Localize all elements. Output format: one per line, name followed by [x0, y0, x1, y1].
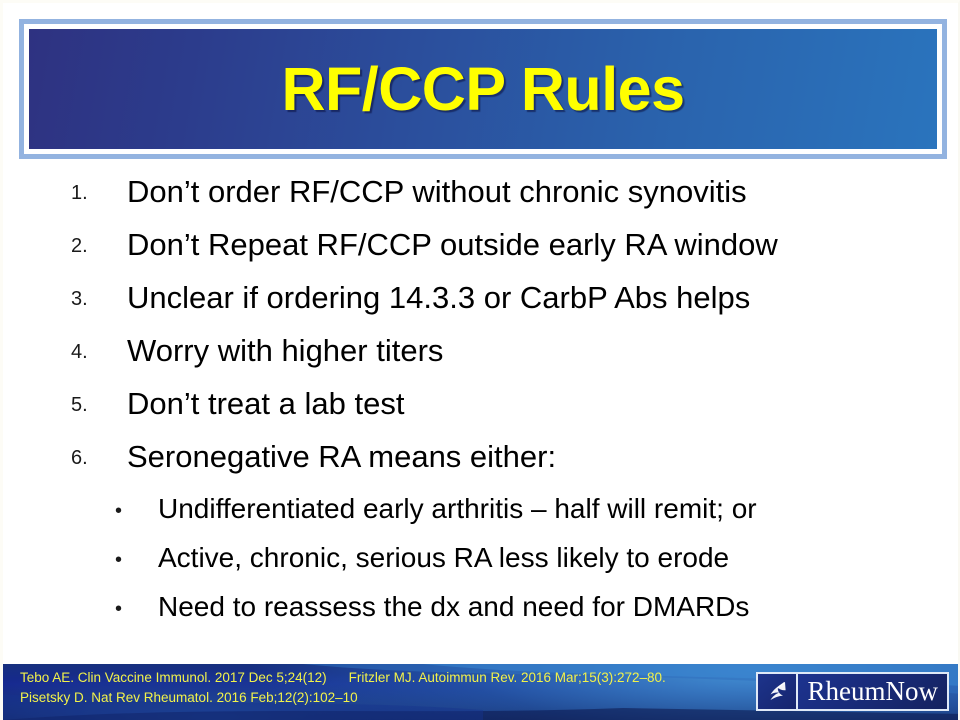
sub-list-item: • Active, chronic, serious RA less likel…: [3, 536, 960, 585]
citation-pisetsky: Pisetsky D. Nat Rev Rheumatol. 2016 Feb;…: [20, 690, 358, 705]
bullet-icon: •: [115, 550, 131, 570]
title-banner: RF/CCP Rules: [19, 19, 947, 159]
list-item: 3. Unclear if ordering 14.3.3 or CarbP A…: [3, 275, 960, 328]
brush-swoosh-glyph: [764, 679, 790, 705]
sub-list-item: • Undifferentiated early arthritis – hal…: [3, 487, 960, 536]
list-item-label: Don’t order RF/CCP without chronic synov…: [127, 169, 747, 215]
list-item-number: 1.: [71, 182, 105, 205]
list-item-label: Don’t treat a lab test: [127, 381, 404, 427]
list-item-number: 2.: [71, 235, 105, 258]
list-item: 2. Don’t Repeat RF/CCP outside early RA …: [3, 222, 960, 275]
list-item-number: 4.: [71, 341, 105, 364]
sub-list-item-label: Need to reassess the dx and need for DMA…: [158, 585, 749, 629]
page-title: RF/CCP Rules: [281, 59, 684, 120]
list-item-label: Worry with higher titers: [127, 328, 443, 374]
list-item: 4. Worry with higher titers: [3, 328, 960, 381]
citation-row-1: Tebo AE. Clin Vaccine Immunol. 2017 Dec …: [20, 668, 666, 688]
sub-list-item: • Need to reassess the dx and need for D…: [3, 585, 960, 634]
rheumnow-logo-text: RheumNow: [808, 678, 939, 705]
citation-fritzler: Fritzler MJ. Autoimmun Rev. 2016 Mar;15(…: [349, 670, 666, 685]
list-item-number: 6.: [71, 447, 105, 470]
list-item-label: Unclear if ordering 14.3.3 or CarbP Abs …: [127, 275, 750, 321]
list-item-label: Seronegative RA means either:: [127, 434, 556, 480]
rheumnow-wordmark: RheumNow: [798, 674, 948, 709]
bullet-icon: •: [115, 599, 131, 619]
citations: Tebo AE. Clin Vaccine Immunol. 2017 Dec …: [20, 668, 666, 708]
brush-swoosh-icon: [758, 674, 798, 709]
slide-footer: Tebo AE. Clin Vaccine Immunol. 2017 Dec …: [3, 664, 960, 720]
slide-canvas: RF/CCP Rules 1. Don’t order RF/CCP witho…: [0, 0, 960, 720]
citation-tebo: Tebo AE. Clin Vaccine Immunol. 2017 Dec …: [20, 670, 327, 685]
list-item-number: 5.: [71, 394, 105, 417]
title-banner-fill: RF/CCP Rules: [29, 29, 937, 149]
bullet-icon: •: [115, 501, 131, 521]
list-item: 1. Don’t order RF/CCP without chronic sy…: [3, 169, 960, 222]
list-item: 6. Seronegative RA means either:: [3, 434, 960, 487]
list-item-number: 3.: [71, 288, 105, 311]
sub-list-item-label: Undifferentiated early arthritis – half …: [158, 487, 757, 531]
rheumnow-logo[interactable]: RheumNow: [756, 672, 950, 711]
list-item: 5. Don’t treat a lab test: [3, 381, 960, 434]
citation-row-2: Pisetsky D. Nat Rev Rheumatol. 2016 Feb;…: [20, 688, 666, 708]
sub-list-item-label: Active, chronic, serious RA less likely …: [158, 536, 729, 580]
slide-body: 1. Don’t order RF/CCP without chronic sy…: [3, 169, 960, 669]
list-item-label: Don’t Repeat RF/CCP outside early RA win…: [127, 222, 778, 268]
